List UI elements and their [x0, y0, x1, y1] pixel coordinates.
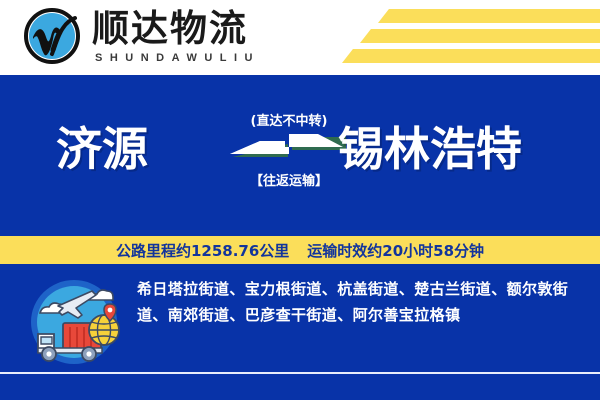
header-stripe-decoration	[340, 0, 600, 75]
route-note-bottom: 【往返运输】	[230, 173, 348, 191]
duration-text: 运输时效约20小时58分钟	[307, 240, 484, 261]
stripe-1	[378, 9, 600, 23]
route-band: 济源 (直达不中转)	[0, 75, 600, 236]
route-middle-group: (直达不中转) 【往返运	[230, 113, 348, 191]
brand-text-group: 顺达物流 SHUNDAWULIU	[92, 8, 260, 65]
logistics-route-poster: 顺达物流 SHUNDAWULIU 济源 (直达不中转)	[0, 0, 600, 400]
poster-footer	[0, 374, 600, 400]
brand-name-cn: 顺达物流	[92, 8, 260, 50]
double-headed-arrow-icon	[230, 134, 348, 168]
shunda-circle-swoosh-logo-icon	[22, 6, 82, 66]
stripe-3	[342, 49, 600, 63]
logistics-truck-plane-globe-icon	[18, 278, 130, 366]
stripe-2	[360, 29, 600, 43]
coverage-section: 希日塔拉街道、宝力根街道、杭盖街道、楚古兰街道、额尔敦街道、南郊街道、巴彦查干街…	[0, 264, 600, 373]
coverage-street-list: 希日塔拉街道、宝力根街道、杭盖街道、楚古兰街道、额尔敦街道、南郊街道、巴彦查干街…	[137, 276, 577, 328]
destination-city: 锡林浩特	[338, 120, 522, 178]
distance-text: 公路里程约1258.76公里	[116, 240, 289, 261]
poster-header: 顺达物流 SHUNDAWULIU	[0, 0, 600, 75]
route-info-bar: 公路里程约1258.76公里 运输时效约20小时58分钟	[0, 236, 600, 264]
brand-name-en: SHUNDAWULIU	[95, 51, 260, 65]
brand-logo-group: 顺达物流 SHUNDAWULIU	[22, 6, 260, 66]
origin-city: 济源	[56, 120, 148, 178]
route-note-top: (直达不中转)	[230, 113, 348, 131]
